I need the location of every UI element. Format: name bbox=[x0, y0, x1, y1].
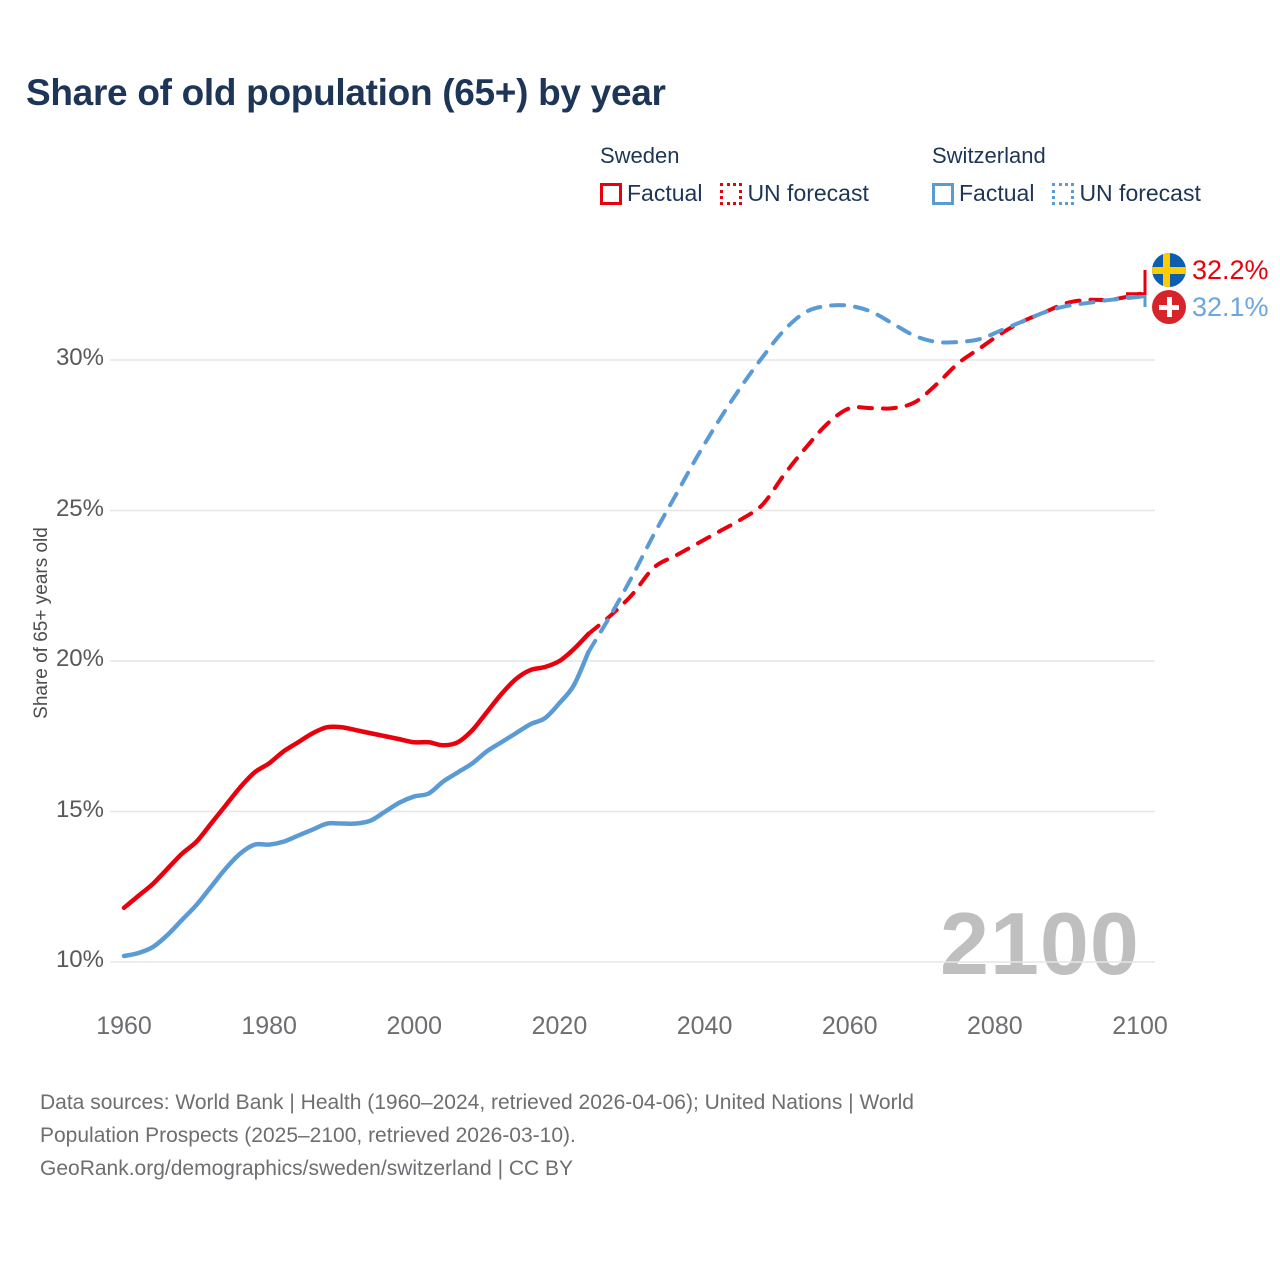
flag-sweden-icon bbox=[1152, 253, 1186, 287]
series-line-sweden-forecast bbox=[588, 294, 1140, 634]
footer-line-3[interactable]: GeoRank.org/demographics/sweden/switzerl… bbox=[40, 1152, 1240, 1185]
x-tick-label: 2100 bbox=[1085, 1012, 1195, 1041]
end-connector-sweden bbox=[1126, 270, 1145, 294]
footer-line-2: Population Prospects (2025–2100, retriev… bbox=[40, 1119, 1240, 1152]
y-tick-label: 20% bbox=[14, 645, 104, 673]
end-label-sweden: 32.2% bbox=[1152, 253, 1269, 287]
y-tick-label: 10% bbox=[14, 946, 104, 974]
x-tick-label: 2080 bbox=[940, 1012, 1050, 1041]
footer-sources: Data sources: World Bank | Health (1960–… bbox=[40, 1086, 1240, 1185]
series-line-switzerland-forecast bbox=[588, 297, 1140, 652]
x-tick-label: 2040 bbox=[650, 1012, 760, 1041]
end-label-switzerland: 32.1% bbox=[1152, 290, 1269, 324]
x-tick-label: 2060 bbox=[795, 1012, 905, 1041]
x-tick-label: 1960 bbox=[69, 1012, 179, 1041]
end-value-sweden: 32.2% bbox=[1192, 255, 1269, 286]
x-tick-label: 1980 bbox=[214, 1012, 324, 1041]
series-paths-group bbox=[124, 294, 1140, 956]
end-value-switzerland: 32.1% bbox=[1192, 292, 1269, 323]
x-tick-label: 2000 bbox=[359, 1012, 469, 1041]
series-line-switzerland-factual bbox=[124, 652, 588, 956]
end-connectors-group bbox=[1126, 270, 1145, 307]
x-tick-label: 2020 bbox=[504, 1012, 614, 1041]
footer-line-1: Data sources: World Bank | Health (1960–… bbox=[40, 1086, 1240, 1119]
y-tick-label: 30% bbox=[14, 344, 104, 372]
y-tick-label: 15% bbox=[14, 796, 104, 824]
y-axis-title: Share of 65+ years old bbox=[31, 508, 53, 738]
y-tick-label: 25% bbox=[14, 495, 104, 523]
gridlines-group bbox=[110, 360, 1155, 962]
flag-switzerland-icon bbox=[1152, 290, 1186, 324]
series-line-sweden-factual bbox=[124, 634, 588, 908]
